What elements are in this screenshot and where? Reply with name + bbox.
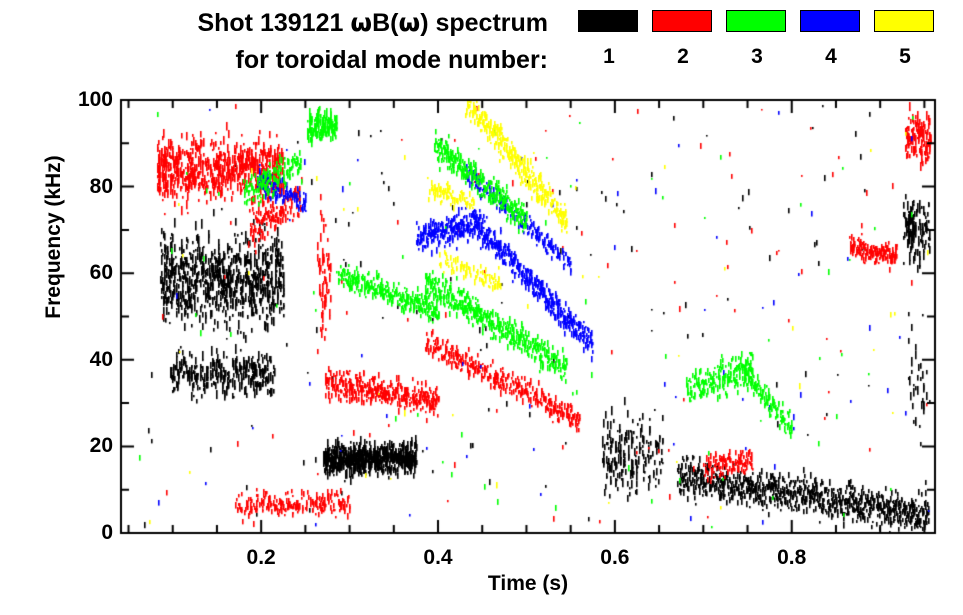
x-axis-tick-labels: 0.20.40.60.8 (0, 0, 963, 615)
x-axis-title: Time (s) (121, 572, 935, 596)
x-tick-label-0.2: 0.2 (221, 547, 301, 568)
x-tick-label-0.8: 0.8 (752, 547, 832, 568)
spectrogram-figure: Shot 139121 ωB(ω) spectrum for toroidal … (0, 0, 963, 615)
x-tick-label-0.6: 0.6 (575, 547, 655, 568)
y-axis-title: Frequency (kHz) (42, 107, 66, 367)
x-tick-label-0.4: 0.4 (398, 547, 478, 568)
